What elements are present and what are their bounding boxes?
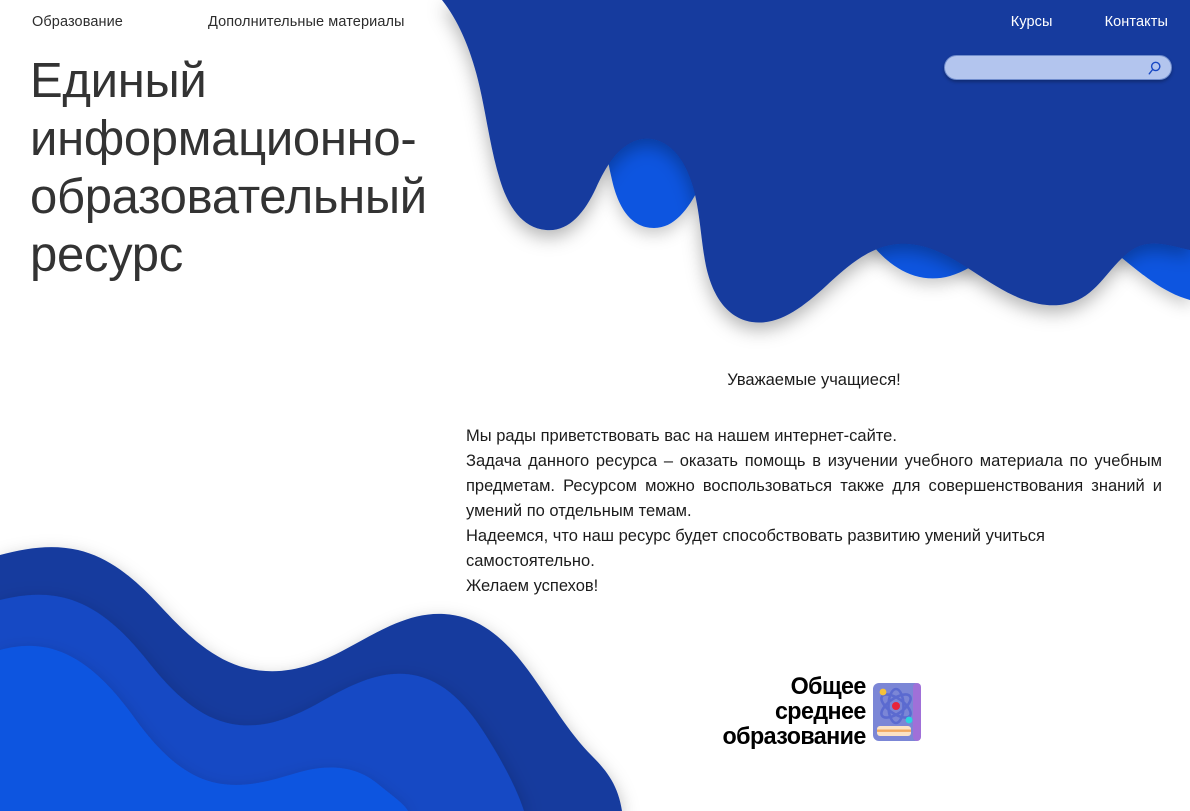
search-input[interactable] [944,55,1172,80]
nav-link-dopolnitelnye-materialy[interactable]: Дополнительные материалы [208,14,405,30]
brand-logo[interactable]: Общее среднее образование [666,674,922,749]
brand-logo-text: Общее среднее образование [723,674,866,749]
paragraph-4: Желаем успехов! [466,574,1162,599]
paragraph-3: Надеемся, что наш ресурс будет способств… [466,524,1162,574]
page-root: Образование Дополнительные материалы Кур… [0,0,1190,811]
brand-line-3: образование [723,724,866,749]
paragraph-1: Мы рады приветствовать вас на нашем инте… [466,424,1162,449]
page-title: Единый информационно-образовательный рес… [30,52,590,284]
nav-link-obrazovanie[interactable]: Образование [32,14,123,30]
search-box [944,55,1172,80]
primary-nav-right: Курсы Контакты [1011,14,1168,30]
wave-top-light [578,0,1190,300]
nav-link-kontakty[interactable]: Контакты [1105,14,1168,30]
book-atom-icon [872,682,922,742]
brand-line-2: среднее [723,699,866,724]
main-content: Уважаемые учащиеся! Мы рады приветствова… [466,371,1162,599]
wave-bottom-light [0,646,408,811]
search-icon[interactable] [1147,60,1162,75]
primary-nav-left: Образование Дополнительные материалы [32,14,405,30]
greeting-heading: Уважаемые учащиеся! [466,371,1162,390]
nav-link-kursy[interactable]: Курсы [1011,14,1053,30]
wave-bottom-mid [0,595,524,811]
paragraph-2: Задача данного ресурса – оказать помощь … [466,449,1162,524]
welcome-text: Мы рады приветствовать вас на нашем инте… [466,424,1162,599]
brand-line-1: Общее [723,674,866,699]
